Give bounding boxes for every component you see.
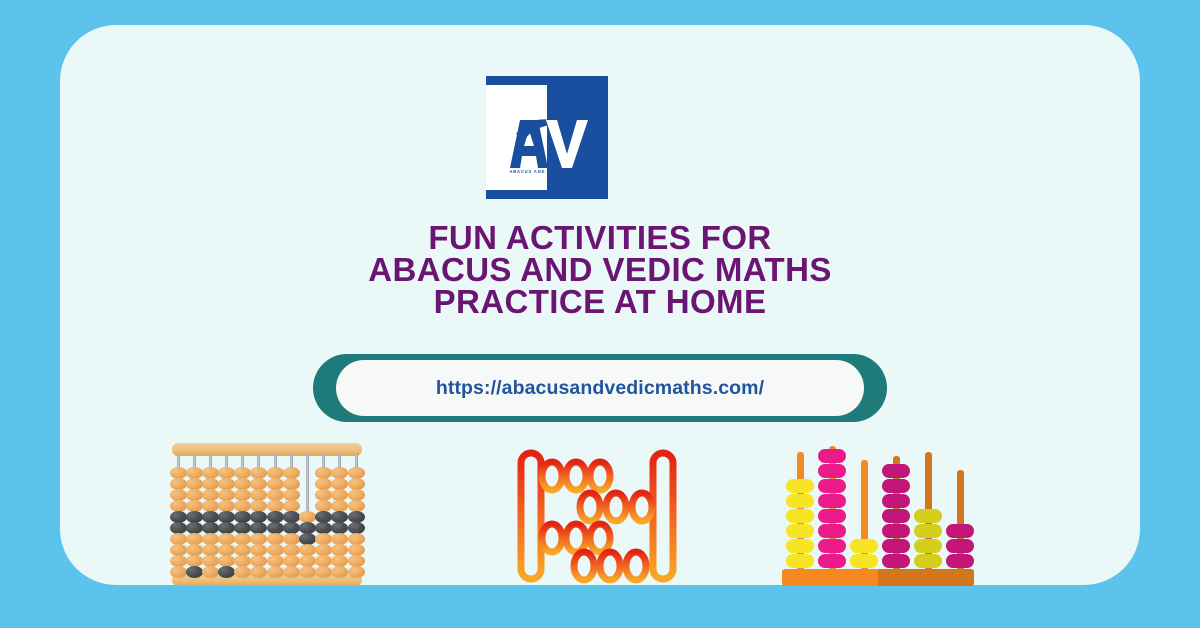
colorful-bead-abacus xyxy=(782,446,974,586)
abacus-bead xyxy=(331,566,348,578)
abacus-bead xyxy=(882,524,910,538)
abacus-bead xyxy=(786,524,814,538)
abacus-bead xyxy=(283,566,300,578)
abacus-bead xyxy=(882,479,910,493)
logo-monogram-av xyxy=(486,112,608,174)
abacus-bead xyxy=(818,464,846,478)
abacus-bead xyxy=(786,539,814,553)
abacus-bead xyxy=(914,539,942,553)
abacus-bead xyxy=(882,494,910,508)
abacus-bead xyxy=(946,524,974,538)
abacus-bead xyxy=(914,554,942,568)
abacus-bead xyxy=(818,539,846,553)
abacus-bead xyxy=(250,566,267,578)
abacus-bead xyxy=(946,539,974,553)
page-title-line-1: Fun Activities For xyxy=(60,222,1140,254)
abacus-bead xyxy=(882,554,910,568)
abacus-bead xyxy=(882,509,910,523)
page-title-line-3: Practice At Home xyxy=(60,286,1140,318)
website-url-pill[interactable]: https://abacusandvedicmaths.com/ xyxy=(313,354,887,422)
abacus-bead xyxy=(218,566,235,578)
abacus-bead xyxy=(818,449,846,463)
abacus-bead xyxy=(914,524,942,538)
abacus-bead xyxy=(818,509,846,523)
abacus-bead xyxy=(186,566,203,578)
abacus-bead xyxy=(882,539,910,553)
website-url-text[interactable]: https://abacusandvedicmaths.com/ xyxy=(436,377,764,400)
abacus-bead xyxy=(818,494,846,508)
abacus-bead xyxy=(818,479,846,493)
abacus-bead xyxy=(234,566,251,578)
website-url-pill-inner[interactable]: https://abacusandvedicmaths.com/ xyxy=(336,360,864,416)
abacus-bead xyxy=(267,566,284,578)
abacus-rods xyxy=(172,453,362,577)
abacus-bead xyxy=(882,464,910,478)
poster-canvas: ABACUS AND VEDIC MATHS ABACUS AND VEDIC … xyxy=(0,0,1200,628)
wooden-abacus xyxy=(172,443,362,586)
abacus-bead xyxy=(170,566,187,578)
abacus-bead xyxy=(946,554,974,568)
abacus-bead xyxy=(786,494,814,508)
abacus-bead xyxy=(850,539,878,553)
page-title: Fun Activities For Abacus And Vedic Math… xyxy=(60,222,1140,318)
logo-bar-top xyxy=(486,76,547,85)
logo-bar-bottom xyxy=(486,190,547,199)
logo-tagline-overlay: ABACUS AND VEDIC MATHS xyxy=(547,169,608,177)
abacus-bead xyxy=(786,554,814,568)
abacus-bead xyxy=(299,566,316,578)
abacus-bead xyxy=(818,524,846,538)
page-title-line-2: Abacus And Vedic Maths xyxy=(60,254,1140,286)
outline-abacus-icon xyxy=(512,447,682,585)
abacus-and-vedic-maths-logo: ABACUS AND VEDIC MATHS ABACUS AND VEDIC … xyxy=(486,76,608,199)
abacus-bead xyxy=(786,479,814,493)
abacus-bead xyxy=(850,554,878,568)
abacus-bead xyxy=(315,566,332,578)
abacus-bead xyxy=(348,566,365,578)
abacus-bead xyxy=(202,566,219,578)
abacus-base-shadow xyxy=(878,569,974,586)
abacus-bead xyxy=(818,554,846,568)
abacus-bead xyxy=(786,509,814,523)
abacus-bead xyxy=(914,509,942,523)
